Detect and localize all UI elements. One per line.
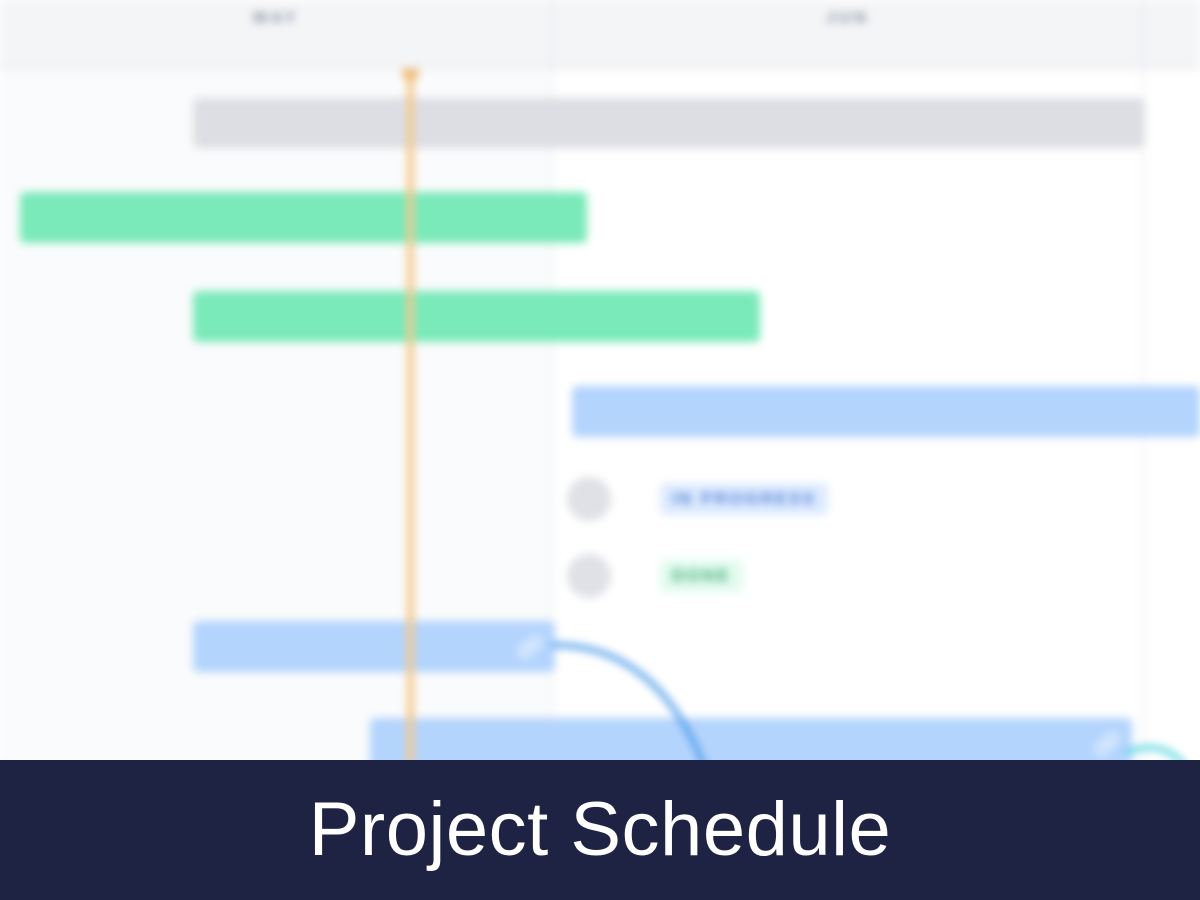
status-badge[interactable]: DONE: [660, 560, 743, 592]
month-label: JUN: [826, 8, 870, 28]
bar-task-blue-2[interactable]: [193, 621, 555, 672]
timeline-header-cell-jun[interactable]: JUN: [552, 0, 1143, 67]
page-title: Project Schedule: [309, 792, 892, 868]
timeline-header: MAYJUN: [0, 0, 1200, 69]
bar-task-green-1[interactable]: [20, 192, 587, 243]
month-label: MAY: [253, 8, 299, 28]
timeline-header-cell-may[interactable]: MAY: [0, 0, 552, 67]
status-row-in-progress: IN PROGRESS: [567, 477, 828, 521]
bar-task-green-2[interactable]: [193, 291, 760, 342]
status-badge[interactable]: IN PROGRESS: [660, 483, 828, 515]
title-banner: Project Schedule: [0, 760, 1200, 900]
timeline-header-cell-3[interactable]: [1143, 0, 1200, 67]
status-row-done: DONE: [567, 554, 743, 598]
avatar[interactable]: [567, 554, 611, 598]
avatar[interactable]: [567, 477, 611, 521]
gantt-screenshot: IN PROGRESSDONE MAYJUN Project Schedule: [0, 0, 1200, 900]
today-marker-line[interactable]: [407, 72, 414, 772]
bar-epic-summary[interactable]: [193, 98, 1145, 148]
link-icon[interactable]: [1092, 729, 1122, 759]
bar-task-blue-1[interactable]: [572, 386, 1200, 437]
link-icon[interactable]: [515, 632, 545, 662]
